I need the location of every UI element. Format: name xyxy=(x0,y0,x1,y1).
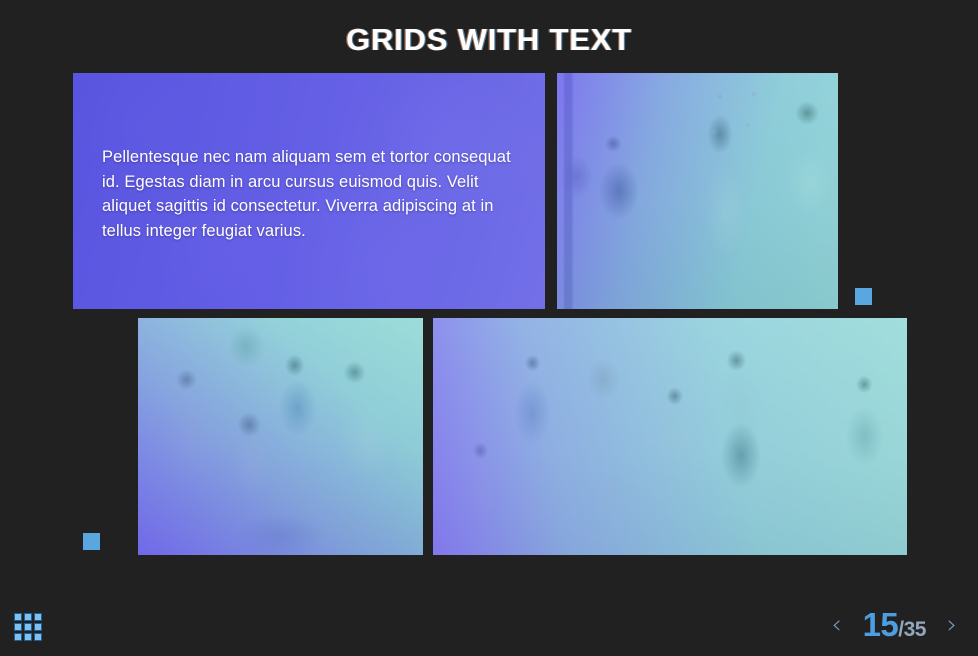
grid-panel-text[interactable]: Pellentesque nec nam aliquam sem et tort… xyxy=(73,73,545,309)
grid-panel-laptop-team[interactable] xyxy=(138,318,423,555)
panel-color-overlay xyxy=(433,318,907,555)
page-title: GRIDS WITH TEXT xyxy=(0,22,978,58)
total-page-count: /35 xyxy=(898,618,926,642)
grid-panel-group-meeting[interactable] xyxy=(433,318,907,555)
grid-panel-workshop[interactable] xyxy=(557,73,838,309)
current-page-number: 15 xyxy=(863,606,899,644)
grid-cell xyxy=(24,633,32,641)
grid-cell xyxy=(24,613,32,621)
grid-cell xyxy=(14,623,22,631)
grid-cell xyxy=(34,623,42,631)
accent-square-right xyxy=(855,288,872,305)
grid-cell xyxy=(14,633,22,641)
panel-body-text: Pellentesque nec nam aliquam sem et tort… xyxy=(102,145,520,243)
page-indicator: 15 /35 xyxy=(863,606,926,644)
accent-square-left xyxy=(83,533,100,550)
chevron-right-icon[interactable]: › xyxy=(942,609,962,641)
grid-menu-icon[interactable] xyxy=(13,612,43,642)
panel-color-overlay xyxy=(557,73,838,309)
grid-cell xyxy=(24,623,32,631)
grid-cell xyxy=(14,613,22,621)
panel-color-overlay xyxy=(138,318,423,555)
slide-pager: ‹ 15 /35 › xyxy=(827,606,962,644)
grid-cell xyxy=(34,633,42,641)
grid-cell xyxy=(34,613,42,621)
chevron-left-icon[interactable]: ‹ xyxy=(827,609,847,641)
